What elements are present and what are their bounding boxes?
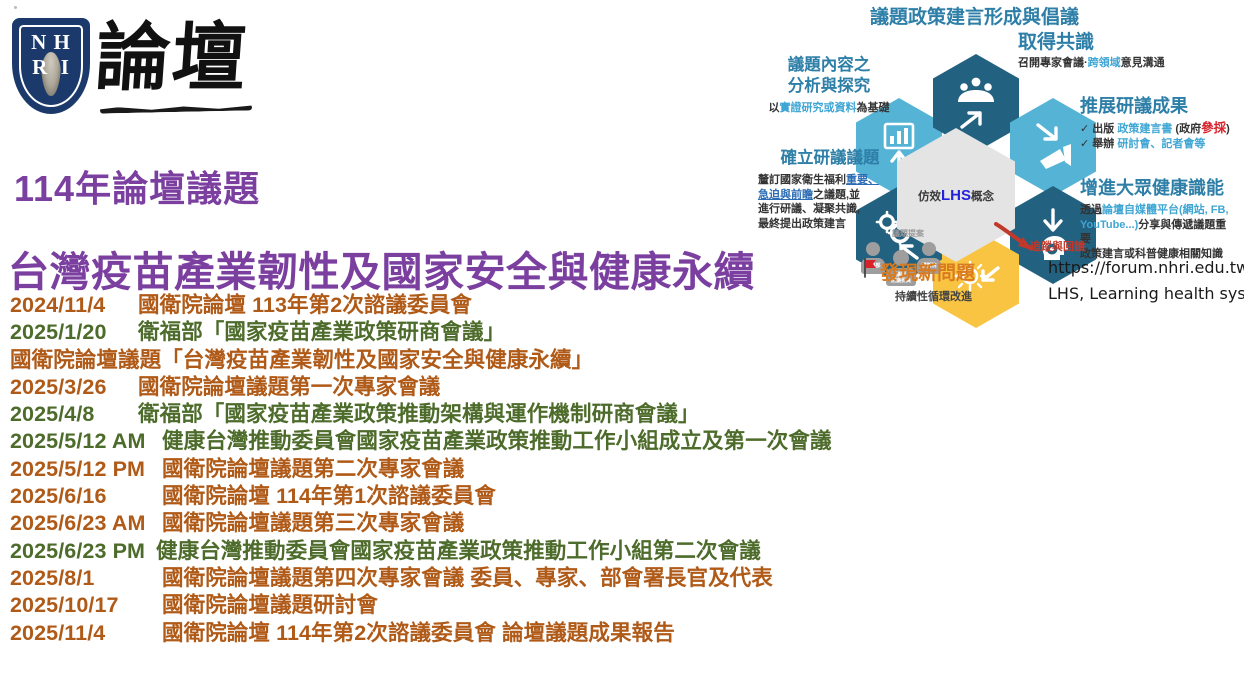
hex-center-label: 仿效LHS概念	[897, 187, 1015, 204]
new-issue-subtitle: 持續性循環改進	[895, 288, 972, 304]
timeline-row: 2025/6/23 PM健康台灣推動委員會國家疫苗產業政策推動工作小組第二次會議	[10, 538, 960, 565]
caption-literacy-heading: 增進大眾健康識能	[1080, 178, 1230, 199]
timeline-text: 國衛院論壇議題第二次專家會議	[162, 456, 464, 483]
person-head-left	[866, 242, 880, 256]
consensus-pre: 召開專家會議·	[1018, 57, 1088, 69]
caption-establish-topic: 確立研議議題 釐訂國家衛生福利重要、 急迫與前瞻之議題,並 進行研議、凝聚共識,…	[746, 148, 914, 231]
timeline-text: 健康台灣推動委員會國家疫苗產業政策推動工作小組成立及第一次會議	[162, 428, 832, 455]
caption-analysis: 議題內容之 分析與探究 以實證研究或資料為基礎	[754, 55, 904, 116]
caption-promote-heading: 推展研議成果	[1080, 96, 1230, 117]
megaphone-icon	[1030, 119, 1076, 175]
timeline-text: 國衛院論壇議題研討會	[162, 592, 378, 619]
center-suffix: 概念	[971, 191, 994, 203]
timeline-row: 2025/5/12 AM健康台灣推動委員會國家疫苗產業政策推動工作小組成立及第一…	[10, 428, 960, 455]
literacy-l1-pre: 透過	[1080, 204, 1102, 216]
promote-i2-hl: 研討會、記者會等	[1117, 138, 1205, 150]
caption-health-literacy: 增進大眾健康識能 透過論壇自媒體平台(網站, FB, YouTube...)分享…	[1080, 178, 1230, 261]
year-title: 114年論壇議題	[14, 160, 260, 212]
timeline-row: 2025/3/26國衛院論壇議題第一次專家會議	[10, 374, 960, 401]
timeline-text: 國衛院論壇議題第一次專家會議	[138, 374, 440, 401]
timeline-row: 2025/5/12 PM國衛院論壇議題第二次專家會議	[10, 456, 960, 483]
person-head-right	[922, 242, 936, 256]
timeline-row: 2025/6/16國衛院論壇 114年第1次諮議委員會	[10, 483, 960, 510]
flag-icon	[863, 258, 879, 278]
promote-i2-pre: ✓ 舉辦	[1080, 138, 1117, 150]
timeline-date: 2025/6/23 AM	[10, 510, 162, 537]
establish-line2: 急迫與前瞻之議題,並	[758, 188, 914, 203]
timeline-date: 2025/5/12 PM	[10, 456, 162, 483]
caption-analysis-heading-l2: 分析與探究	[754, 76, 904, 97]
promote-i1-red: 參採	[1201, 121, 1226, 135]
poster-canvas: N HR I 論壇 114年論壇議題 台灣疫苗產業韌性及國家安全與健康永續 20…	[0, 0, 1244, 673]
promote-item-2: ✓ 舉辦 研討會、記者會等	[1080, 137, 1230, 152]
forum-url[interactable]: https://forum.nhri.edu.tw/	[1048, 258, 1244, 277]
timeline-date: 2025/10/17	[10, 592, 162, 619]
timeline-list: 2024/11/4國衛院論壇 113年第2次諮議委員會2025/1/20衛福部「…	[10, 292, 960, 647]
promote-item-1: ✓ 出版 政策建言書 (政府參採)	[1080, 121, 1230, 137]
nhri-shield-icon: N HR I	[12, 18, 90, 114]
timeline-date: 2025/6/23 PM	[10, 538, 156, 565]
timeline-row: 2025/6/23 AM國衛院論壇議題第三次專家會議	[10, 510, 960, 537]
timeline-row: 2025/4/8衛福部「國家疫苗產業政策推動架構與運作機制研商會議」	[10, 401, 960, 428]
new-issue-label: 發現新問題	[880, 258, 975, 285]
timeline-text: 健康台灣推動委員會國家疫苗產業政策推動工作小組第二次會議	[156, 538, 761, 565]
diagram-title: 議題政策建言形成與倡議	[870, 2, 1079, 29]
timeline-date: 2024/11/4	[10, 292, 138, 319]
timeline-text: 國衛院論壇 113年第2次諮議委員會	[138, 292, 472, 319]
people-group-label: 議題提案	[860, 228, 956, 239]
literacy-line2: YouTube...)分享與傳遞議題重要	[1080, 218, 1230, 247]
caption-analysis-heading-l1: 議題內容之	[754, 55, 904, 76]
timeline-text: 國衛院論壇議題「台灣疫苗產業韌性及國家安全與健康永續」	[10, 347, 593, 374]
people-group-icon	[954, 75, 998, 131]
caption-literacy-body: 透過論壇自媒體平台(網站, FB, YouTube...)分享與傳遞議題重要 政…	[1080, 203, 1230, 261]
timeline-text: 國衛院論壇議題第四次專家會議 委員、專家、部會署長官及代表	[162, 565, 773, 592]
caption-consensus-body: 召開專家會議·跨領域意見溝通	[1018, 56, 1165, 71]
timeline-date: 2025/8/1	[10, 565, 162, 592]
timeline-date: 2025/1/20	[10, 319, 138, 346]
nhri-forum-logo: N HR I 論壇	[8, 10, 258, 120]
timeline-row: 2025/8/1國衛院論壇議題第四次專家會議 委員、專家、部會署長官及代表	[10, 565, 960, 592]
caption-promote-body: ✓ 出版 政策建言書 (政府參採) ✓ 舉辦 研討會、記者會等	[1080, 121, 1230, 151]
establish-line3: 進行研議、凝聚共識,	[758, 202, 914, 217]
caption-consensus: 取得共識 召開專家會議·跨領域意見溝通	[1018, 32, 1165, 71]
logo-brush-underline	[100, 104, 252, 113]
consensus-post: 意見溝通	[1121, 57, 1165, 69]
timeline-date: 2025/5/12 AM	[10, 428, 162, 455]
promote-i1-pre: ✓ 出版	[1080, 123, 1117, 135]
timeline-date: 2025/4/8	[10, 401, 138, 428]
tracking-label: 追蹤與回饋	[1030, 238, 1085, 254]
promote-i1-mid: (政府	[1172, 123, 1201, 135]
timeline-text: 國衛院論壇議題第三次專家會議	[162, 510, 464, 537]
analysis-body-post: 為基礎	[857, 102, 890, 114]
timeline-date: 2025/6/16	[10, 483, 162, 510]
lhs-definition: LHS, Learning health system	[1048, 284, 1244, 303]
logo-wordmark: 論壇	[93, 16, 251, 100]
timeline-row: 國衛院論壇議題「台灣疫苗產業韌性及國家安全與健康永續」	[10, 347, 960, 374]
caption-establish-heading: 確立研議議題	[746, 148, 914, 169]
promote-i1-post: )	[1226, 123, 1230, 135]
literacy-line1: 透過論壇自媒體平台(網站, FB,	[1080, 203, 1230, 218]
caption-consensus-heading: 取得共識	[1018, 32, 1165, 53]
timeline-row: 2025/1/20衛福部「國家疫苗產業政策研商會議」	[10, 319, 960, 346]
literacy-l1-hl: 論壇自媒體平台(網站, FB,	[1102, 204, 1229, 216]
analysis-body-pre: 以	[769, 102, 780, 114]
decorative-dot	[14, 6, 17, 9]
establish-line1: 釐訂國家衛生福利重要、	[758, 173, 914, 188]
timeline-text: 衛福部「國家疫苗產業政策推動架構與運作機制研商會議」	[138, 401, 700, 428]
shield-letters: N HR I	[12, 30, 90, 80]
establish-l1-pre: 釐訂國家衛生福利	[758, 174, 846, 186]
lhs-hexagon-diagram: 議題政策建言形成與倡議	[730, 0, 1244, 320]
timeline-text: 國衛院論壇 114年第1次諮議委員會	[162, 483, 496, 510]
timeline-date: 2025/3/26	[10, 374, 138, 401]
timeline-row: 2025/11/4國衛院論壇 114年第2次諮議委員會 論壇議題成果報告	[10, 620, 960, 647]
timeline-date: 2025/11/4	[10, 620, 162, 647]
establish-l2-hl: 急迫與前瞻	[758, 189, 813, 201]
promote-i1-hl: 政策建言書	[1117, 123, 1172, 135]
caption-establish-body: 釐訂國家衛生福利重要、 急迫與前瞻之議題,並 進行研議、凝聚共識, 最終提出政策…	[746, 173, 914, 231]
page-title: 台灣疫苗產業韌性及國家安全與健康永續	[8, 238, 755, 298]
timeline-row: 2025/10/17國衛院論壇議題研討會	[10, 592, 960, 619]
establish-l2-post: 之議題,並	[813, 189, 860, 201]
timeline-text: 國衛院論壇 114年第2次諮議委員會 論壇議題成果報告	[162, 620, 675, 647]
analysis-body-hl: 實證研究或資料	[780, 102, 857, 114]
consensus-hl: 跨領域	[1088, 57, 1121, 69]
caption-promote-results: 推展研議成果 ✓ 出版 政策建言書 (政府參採) ✓ 舉辦 研討會、記者會等	[1080, 96, 1230, 151]
center-emphasis: LHS	[941, 187, 971, 204]
caption-analysis-body: 以實證研究或資料為基礎	[754, 101, 904, 116]
center-prefix: 仿效	[918, 191, 941, 203]
literacy-l2-hl: YouTube...)	[1080, 219, 1138, 231]
establish-l1-hl: 重要、	[846, 174, 879, 186]
timeline-text: 衛福部「國家疫苗產業政策研商會議」	[138, 319, 505, 346]
